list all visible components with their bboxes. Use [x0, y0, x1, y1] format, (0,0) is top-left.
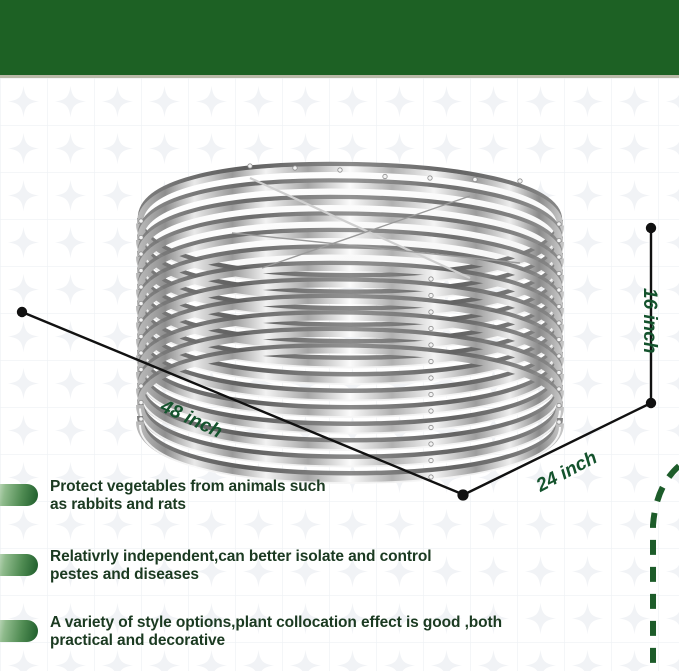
feature-text: A variety of style options,plant colloca…	[50, 614, 502, 649]
list-item: Protect vegetables from animals such as …	[0, 478, 679, 536]
green-pill-bullet-icon	[0, 484, 38, 506]
header-banner	[0, 0, 679, 75]
green-pill-bullet-icon	[0, 554, 38, 576]
garden-bed-illustration	[0, 78, 679, 518]
header-divider	[0, 75, 679, 78]
list-item: Relativrly independent,can better isolat…	[0, 548, 679, 606]
dimension-label-height: 16 inch	[638, 288, 660, 353]
feature-text: Protect vegetables from animals such as …	[50, 478, 326, 513]
feature-list: Protect vegetables from animals such as …	[0, 470, 679, 671]
product-dimensions-infographic: Product Dimensions	[0, 0, 679, 671]
feature-text: Relativrly independent,can better isolat…	[50, 548, 431, 583]
list-item: A variety of style options,plant colloca…	[0, 614, 679, 671]
green-pill-bullet-icon	[0, 620, 38, 642]
